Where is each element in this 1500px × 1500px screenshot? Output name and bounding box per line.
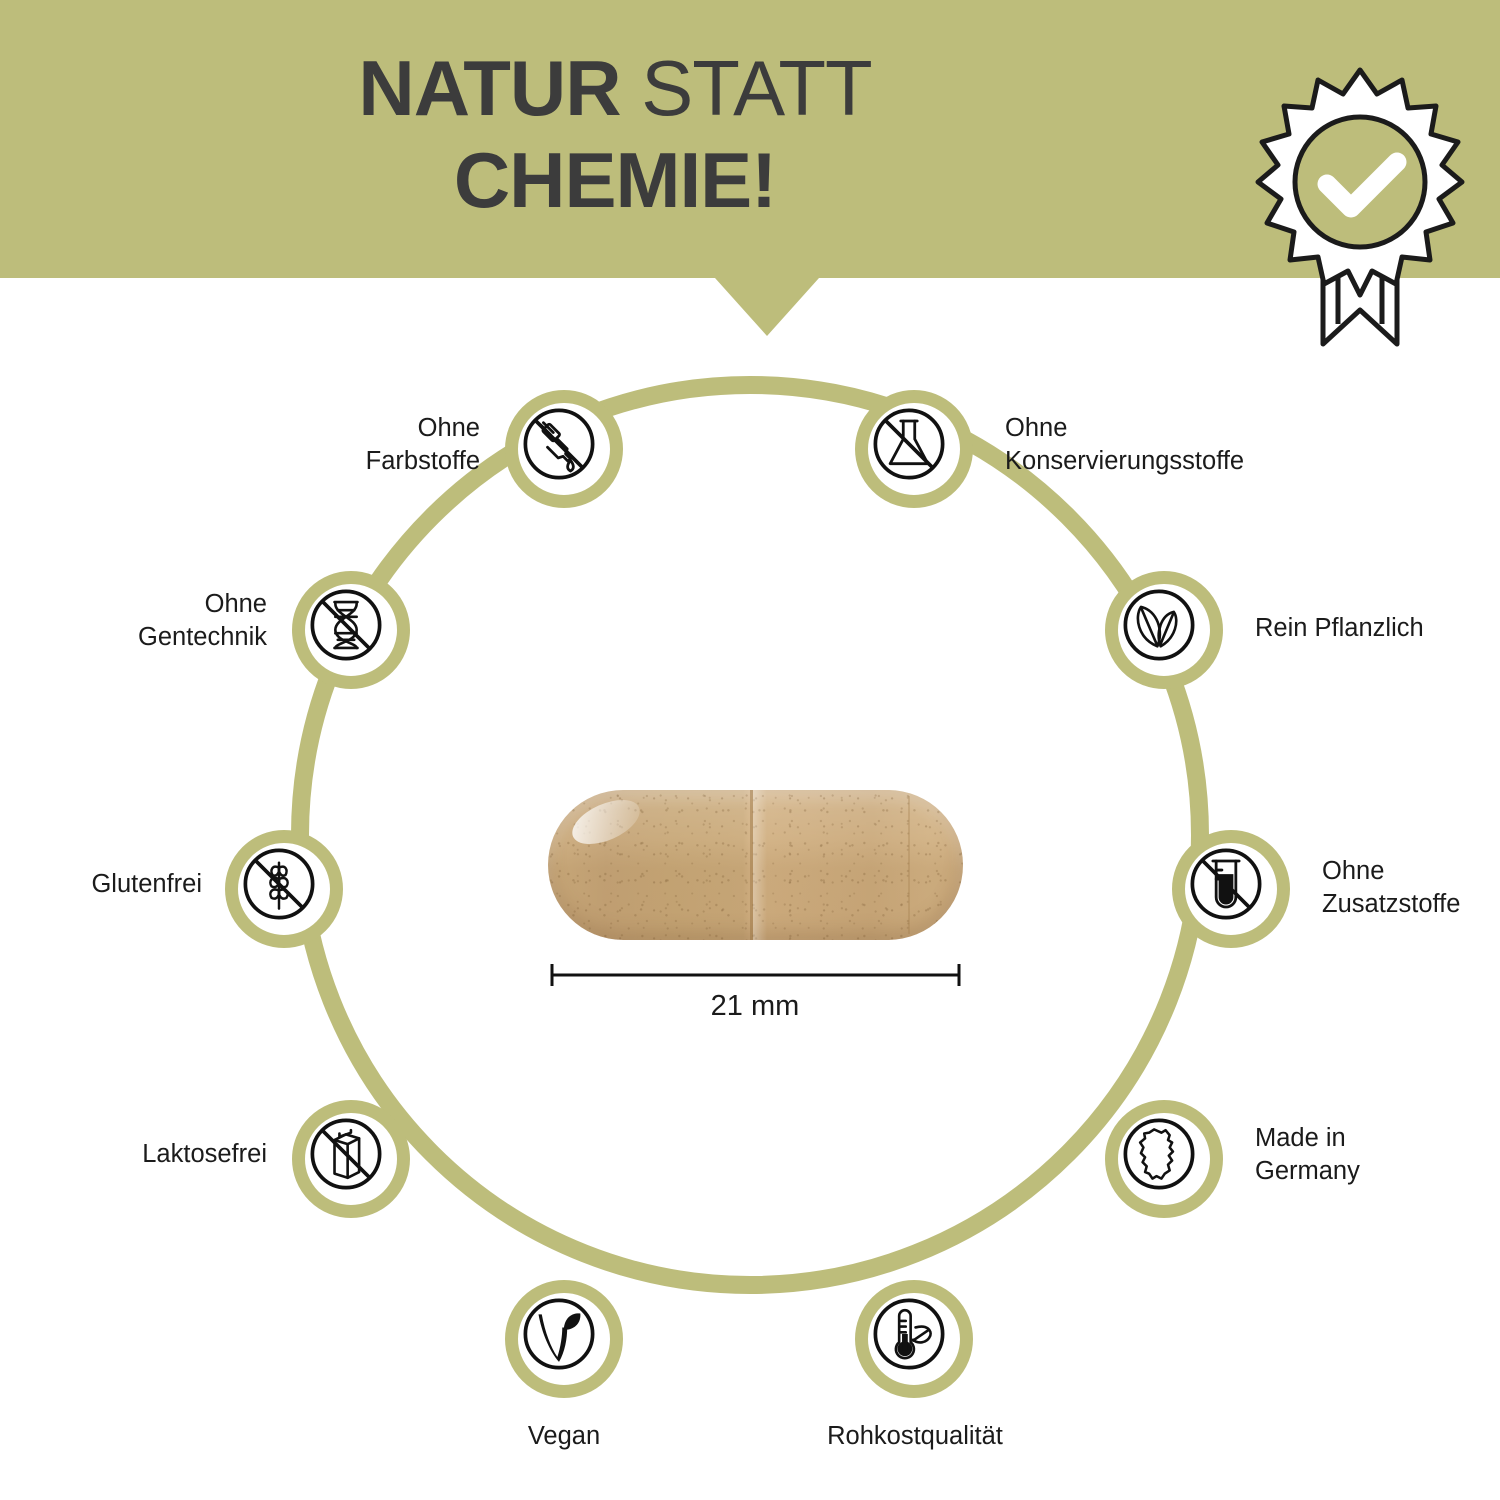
wheat-crossed-out-icon [238, 843, 320, 925]
badge-label-vegan: Vegan [424, 1420, 704, 1453]
test-tube-crossed-out-icon [1185, 843, 1267, 925]
badge-node-vegan[interactable] [505, 1280, 623, 1398]
flask-crossed-out-icon [868, 403, 950, 485]
badge-node-rein-pflanzlich[interactable] [1105, 571, 1223, 689]
two-leaves-icon [1118, 584, 1200, 666]
badge-label-laktosefrei: Laktosefrei [52, 1138, 267, 1171]
vegan-v-leaf-icon [518, 1293, 600, 1375]
badge-node-ohne-farbstoffe[interactable] [505, 390, 623, 508]
badge-node-glutenfrei[interactable] [225, 830, 343, 948]
badge-node-ohne-konservierungsstoffe[interactable] [855, 390, 973, 508]
capsule-cap-edge [908, 796, 910, 934]
badge-label-glutenfrei: Glutenfrei [22, 868, 202, 901]
badge-label-ohne-zusatzstoffe: Ohne Zusatzstoffe [1322, 855, 1500, 920]
capsule-image [548, 790, 963, 940]
badge-label-rohkostqualitaet: Rohkostqualität [755, 1420, 1075, 1453]
milk-carton-crossed-out-icon [305, 1113, 387, 1195]
germany-map-icon [1118, 1113, 1200, 1195]
badge-node-ohne-gentechnik[interactable] [292, 571, 410, 689]
badge-label-ohne-gentechnik: Ohne Gentechnik [42, 588, 267, 653]
badge-label-rein-pflanzlich: Rein Pflanzlich [1255, 612, 1500, 645]
badge-label-made-in-germany: Made in Germany [1255, 1122, 1475, 1187]
badge-node-laktosefrei[interactable] [292, 1100, 410, 1218]
title-word-statt: STATT [641, 44, 871, 132]
thermometer-leaf-icon [868, 1293, 950, 1375]
badge-label-ohne-konservierungsstoffe: Ohne Konservierungsstoffe [1005, 412, 1305, 477]
capsule-size-label: 21 mm [540, 990, 970, 1023]
title-line-chemie: CHEMIE! [0, 134, 1230, 226]
badge-label-ohne-farbstoffe: Ohne Farbstoffe [255, 412, 480, 477]
capsule-seam-highlight [753, 790, 767, 940]
badge-node-made-in-germany[interactable] [1105, 1100, 1223, 1218]
badge-node-rohkostqualitaet[interactable] [855, 1280, 973, 1398]
dna-crossed-out-icon [305, 584, 387, 666]
dropper-crossed-out-icon [518, 403, 600, 485]
infographic-stage: NATUR STATT CHEMIE! [0, 0, 1500, 1500]
page-title: NATUR STATT CHEMIE! [0, 42, 1230, 226]
size-ruler-icon [548, 962, 963, 988]
title-word-natur: NATUR [358, 44, 641, 132]
product-capsule-group: 21 mm [540, 780, 970, 1040]
badge-node-ohne-zusatzstoffe[interactable] [1172, 830, 1290, 948]
